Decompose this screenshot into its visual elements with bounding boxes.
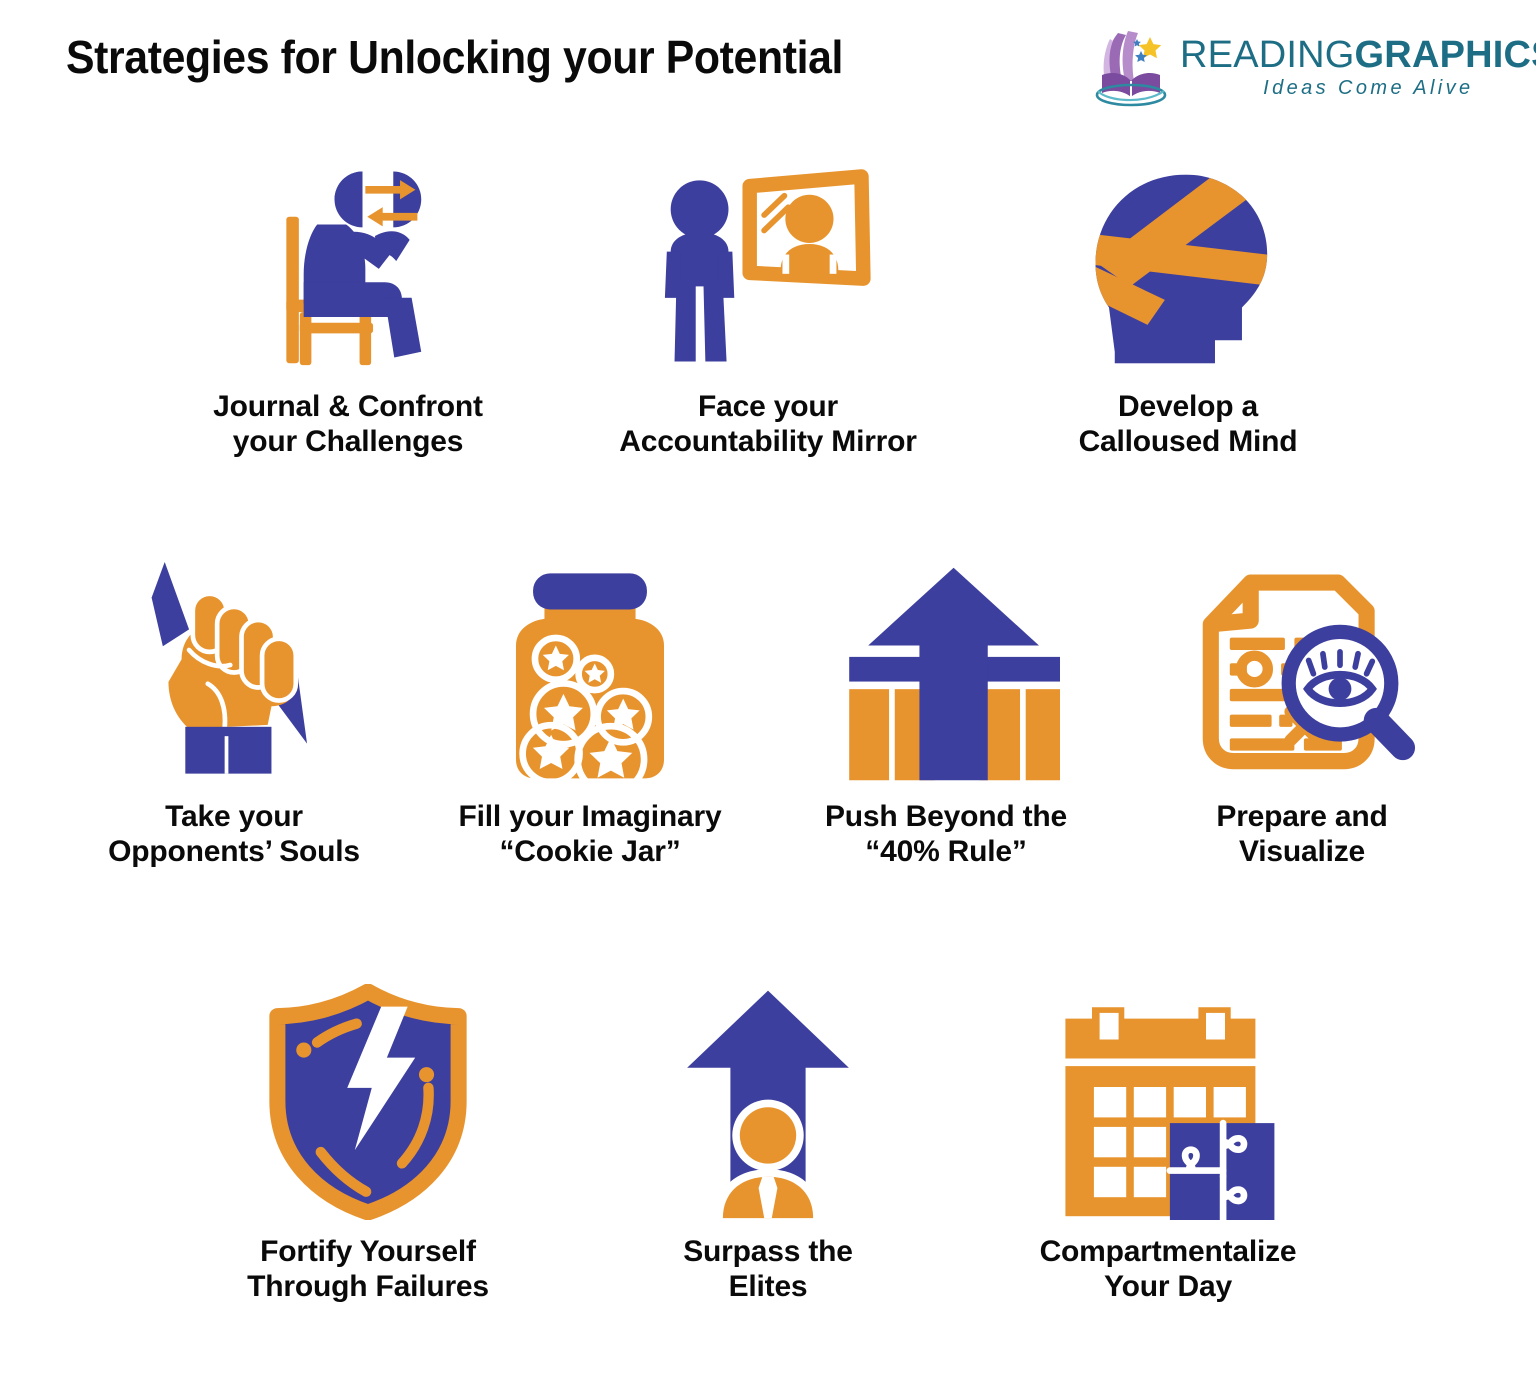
logo-word-graphics: GRAPHICS [1355,34,1536,76]
open-book-with-stars-logo-icon [1088,25,1174,111]
strategy-card-fortify-yourself[interactable]: Fortify Yourself Through Failures [168,955,568,1345]
strategy-card-compartmentalize-day[interactable]: Compartmentalize Your Day [968,955,1368,1345]
logo-tagline: Ideas Come Alive [1180,77,1536,100]
document-with-magnifier-eye-icon [1188,540,1416,785]
strategy-row-3: Fortify Yourself Through Failures Surpas… [0,955,1536,1345]
person-facing-mirror-icon [657,140,879,375]
person-with-up-arrow-icon [674,955,862,1220]
strategy-card-surpass-elites[interactable]: Surpass the Elites [568,955,968,1345]
strategy-label: Push Beyond the “40% Rule” [825,799,1067,870]
strategy-label: Compartmentalize Your Day [1040,1234,1297,1305]
strategy-label: Journal & Confront your Challenges [213,389,483,460]
strategy-card-journal-confront[interactable]: Journal & Confront your Challenges [138,140,558,500]
strategy-label: Prepare and Visualize [1216,799,1387,870]
strategy-card-prepare-visualize[interactable]: Prepare and Visualize [1124,540,1480,920]
strategy-card-forty-percent-rule[interactable]: Push Beyond the “40% Rule” [768,540,1124,920]
brand-logo: READINGGRAPHICS Ideas Come Alive [1088,22,1478,114]
strategy-label: Take your Opponents’ Souls [108,799,360,870]
strategy-card-cookie-jar[interactable]: Fill your Imaginary “Cookie Jar” [412,540,768,920]
strategy-card-opponents-souls[interactable]: Take your Opponents’ Souls [56,540,412,920]
arrow-breaking-ceiling-icon [832,540,1060,785]
strategy-label: Fortify Yourself Through Failures [247,1234,489,1305]
bandaged-head-profile-icon [1072,140,1304,375]
raised-fist-icon [131,540,337,785]
header: Strategies for Unlocking your Potential [0,0,1536,130]
strategy-card-calloused-mind[interactable]: Develop a Calloused Mind [978,140,1398,500]
page-title: Strategies for Unlocking your Potential [66,30,843,84]
shield-with-lightning-bolt-icon [264,955,472,1220]
logo-wordmark: READINGGRAPHICS [1180,36,1536,75]
strategy-row-1: Journal & Confront your Challenges [0,140,1536,500]
strategy-card-accountability-mirror[interactable]: Face your Accountability Mirror [558,140,978,500]
person-journaling-at-desk-icon [242,140,454,375]
strategy-label: Develop a Calloused Mind [1079,389,1298,460]
calendar-with-puzzle-icon [1054,955,1282,1220]
logo-word-reading: READING [1180,34,1355,76]
strategy-label: Fill your Imaginary “Cookie Jar” [459,799,722,870]
strategy-label: Surpass the Elites [683,1234,853,1305]
strategy-label: Face your Accountability Mirror [619,389,917,460]
logo-text: READINGGRAPHICS Ideas Come Alive [1180,36,1536,100]
cookie-jar-with-stars-icon [495,540,685,785]
strategy-row-2: Take your Opponents’ Souls [0,540,1536,920]
